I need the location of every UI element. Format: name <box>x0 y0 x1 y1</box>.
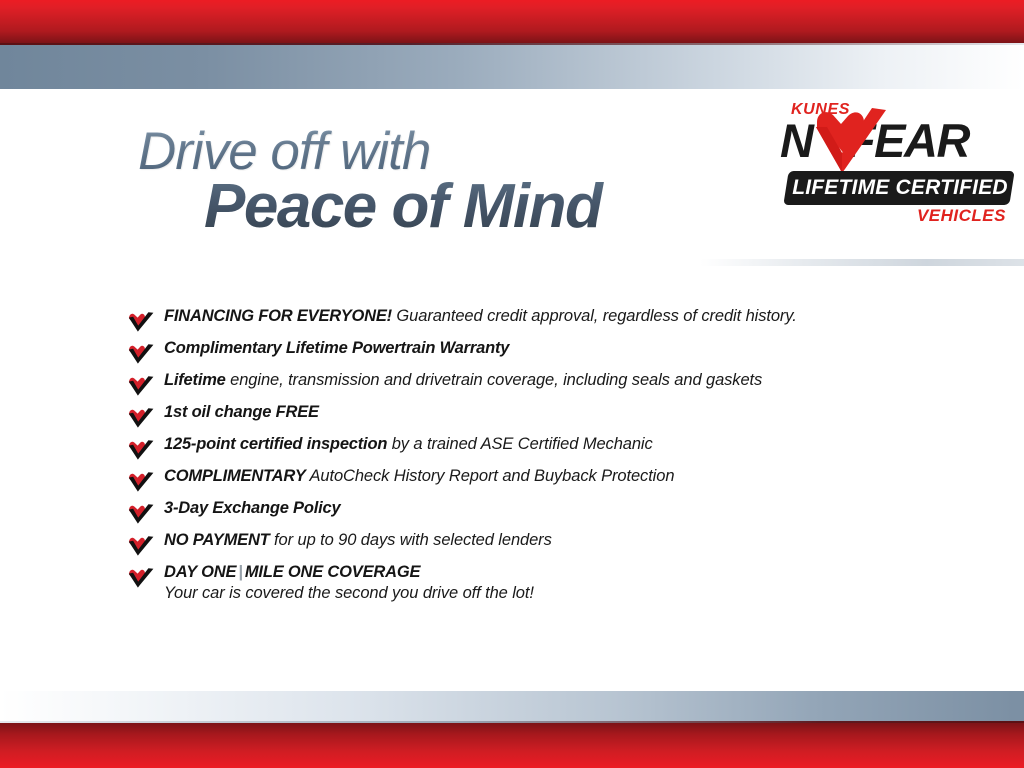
list-item-text: AutoCheck History Report and Buyback Pro… <box>306 467 675 485</box>
content-stage: Drive off with Peace of Mind KUNES NFEAR… <box>0 89 1024 679</box>
list-item-text: by a trained ASE Certified Mechanic <box>387 435 652 453</box>
checkmark-icon <box>128 504 154 524</box>
list-item-strong: Complimentary Lifetime Powertrain Warran… <box>164 339 509 357</box>
kunes-no-fear-logo: KUNES NFEAR LIFETIME CERTIFIED VEHICLES <box>778 99 1014 231</box>
list-item-strong: COMPLIMENTARY <box>164 467 306 485</box>
list-item-strong: 3-Day Exchange Policy <box>164 499 340 517</box>
top-gray-band <box>0 45 1024 89</box>
list-item: NO PAYMENT for up to 90 days with select… <box>128 531 988 563</box>
day-one-label: DAY ONE <box>164 563 236 581</box>
mile-one-label: MILE ONE COVERAGE <box>245 563 420 581</box>
benefits-list: FINANCING FOR EVERYONE! Guaranteed credi… <box>128 307 988 609</box>
list-item: Complimentary Lifetime Powertrain Warran… <box>128 339 988 371</box>
headline-line-2: Peace of Mind <box>138 174 778 239</box>
checkmark-icon <box>128 312 154 332</box>
list-item: 3-Day Exchange Policy <box>128 499 988 531</box>
logo-vehicles-text: VEHICLES <box>917 206 1006 226</box>
list-item-text: Guaranteed credit approval, regardless o… <box>392 307 797 325</box>
list-item-day-one: DAY ONE|MILE ONE COVERAGE Your car is co… <box>128 563 988 609</box>
list-item: 1st oil change FREE <box>128 403 988 435</box>
checkmark-icon <box>128 472 154 492</box>
list-item-strong: FINANCING FOR EVERYONE! <box>164 307 392 325</box>
checkmark-icon <box>128 344 154 364</box>
checkmark-icon <box>128 408 154 428</box>
list-item-text: for up to 90 days with selected lenders <box>270 531 552 549</box>
checkmark-icon <box>128 568 154 588</box>
list-item: FINANCING FOR EVERYONE! Guaranteed credi… <box>128 307 988 339</box>
top-banner <box>0 0 1024 89</box>
logo-certified-text: LIFETIME CERTIFIED <box>792 175 1008 201</box>
list-item: 125-point certified inspection by a trai… <box>128 435 988 467</box>
day-one-subtext: Your car is covered the second you drive… <box>164 584 988 603</box>
header-divider <box>700 259 1024 266</box>
list-item: Lifetime engine, transmission and drivet… <box>128 371 988 403</box>
checkmark-icon <box>128 376 154 396</box>
logo-letter-n: N <box>780 114 811 167</box>
list-item: COMPLIMENTARY AutoCheck History Report a… <box>128 467 988 499</box>
headline-line-1: Drive off with <box>138 125 778 178</box>
list-item-strong: NO PAYMENT <box>164 531 270 549</box>
bottom-red-band <box>0 723 1024 768</box>
day-one-separator: | <box>236 563 245 581</box>
top-red-band <box>0 0 1024 43</box>
list-item-strong: 1st oil change FREE <box>164 403 319 421</box>
checkmark-icon <box>128 440 154 460</box>
list-item-strong: 125-point certified inspection <box>164 435 387 453</box>
list-item-strong: Lifetime <box>164 371 226 389</box>
list-item-text: engine, transmission and drivetrain cove… <box>226 371 763 389</box>
page-title: Drive off with Peace of Mind <box>138 125 778 239</box>
bottom-gray-band <box>0 691 1024 721</box>
bottom-banner <box>0 691 1024 768</box>
checkmark-icon <box>128 536 154 556</box>
